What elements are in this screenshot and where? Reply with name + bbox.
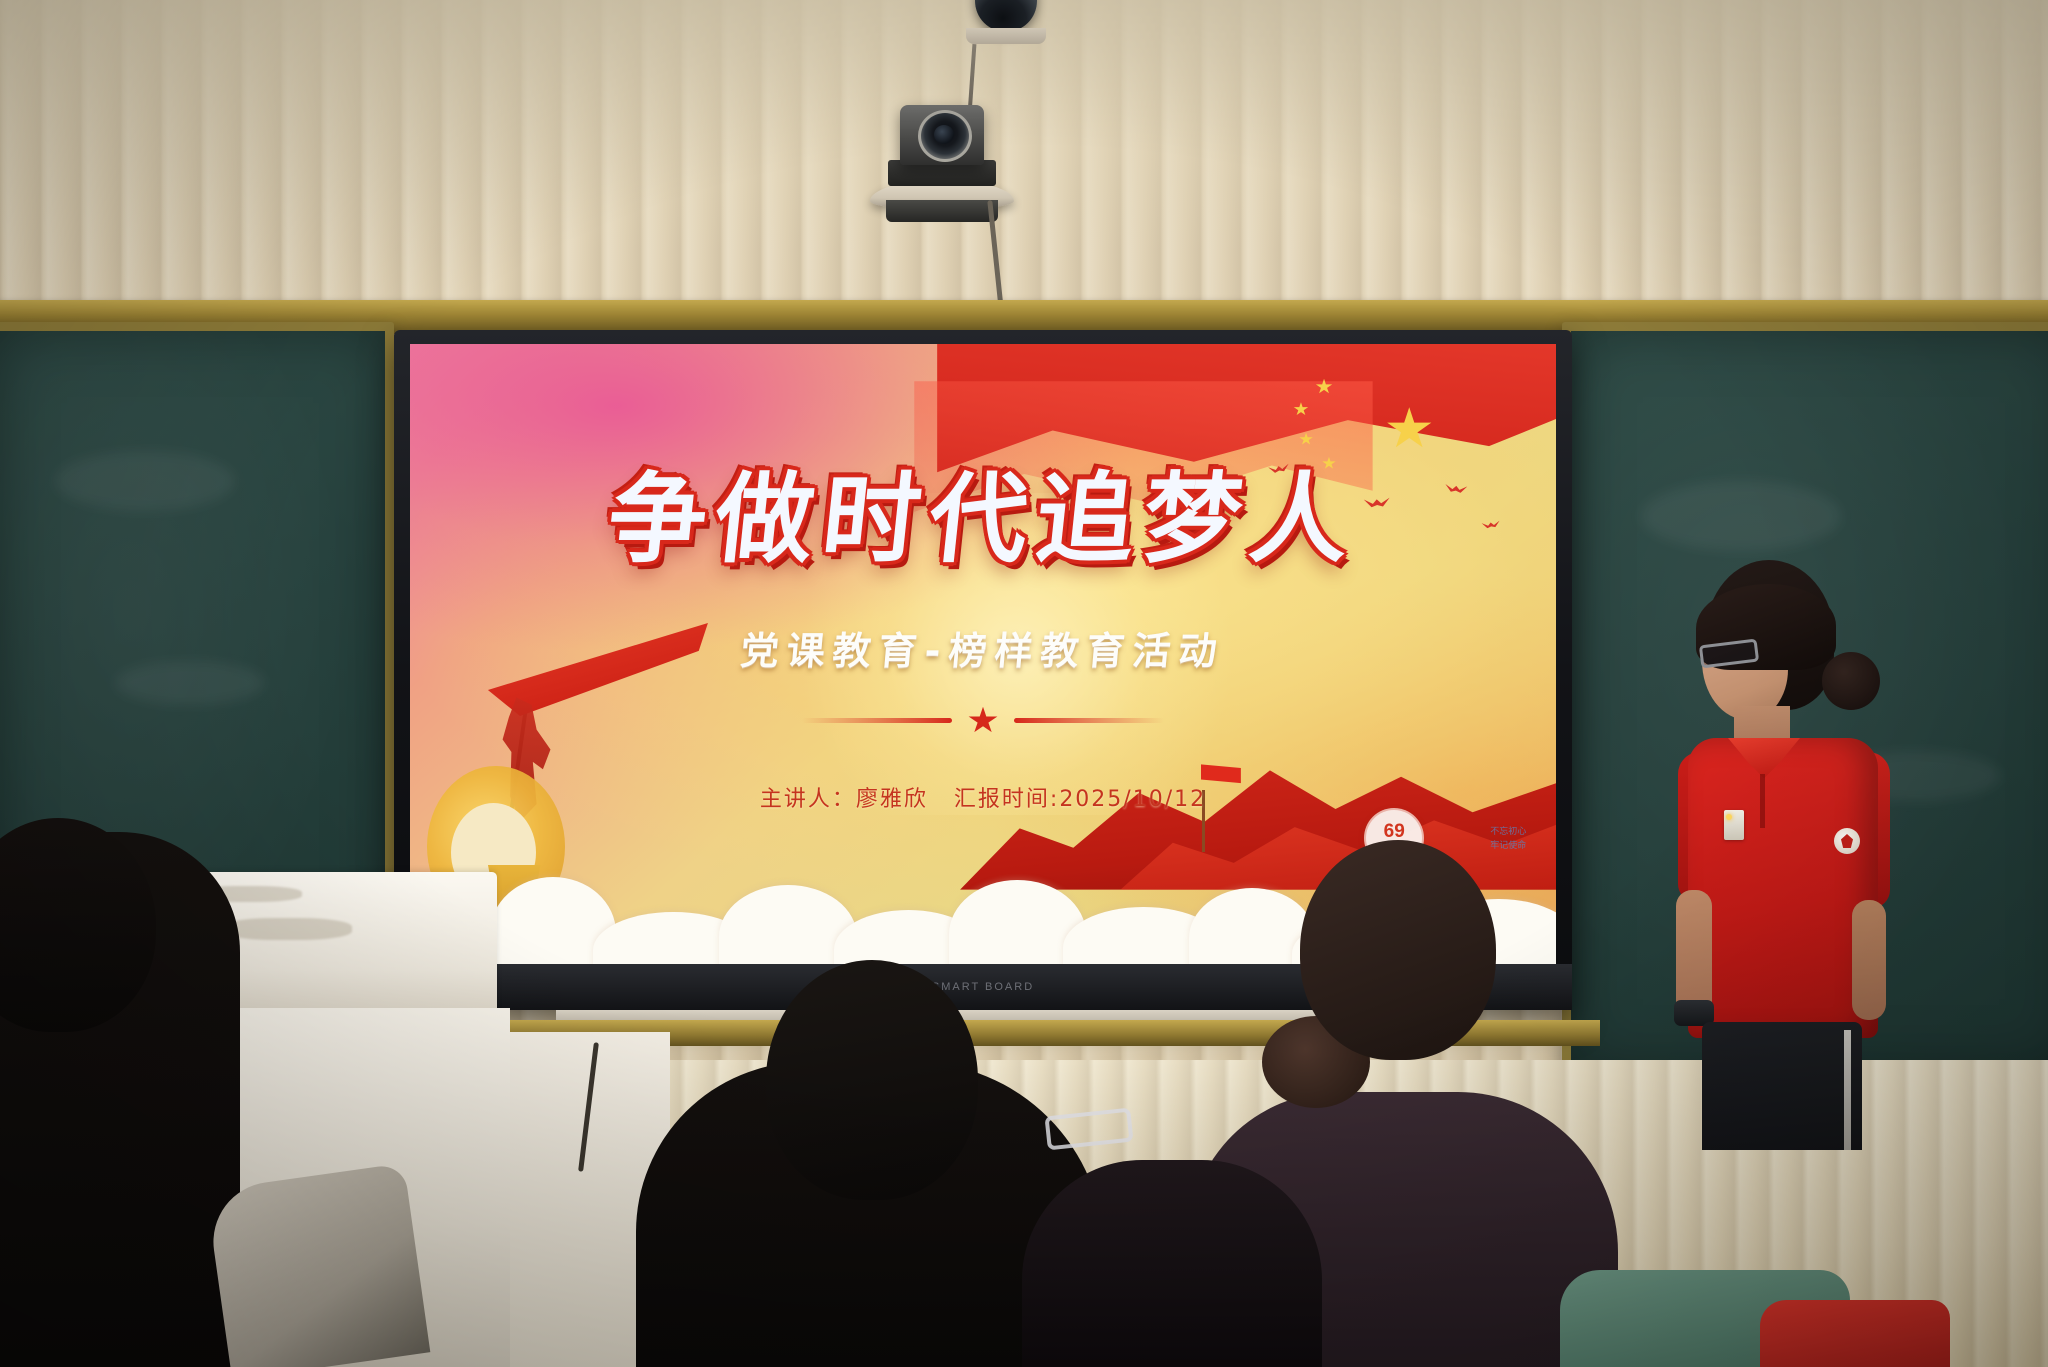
divider-star-icon (968, 707, 998, 735)
chalk-smudge (55, 451, 235, 511)
divider-bar-right (1014, 718, 1164, 723)
badge-side-text: 不忘初心 牢记使命 (1490, 825, 1526, 852)
classroom-photo-scene: 争做时代追梦人 党课教育-榜样教育活动 主讲人：廖雅欣汇报时间:2025/10/… (0, 0, 2048, 1367)
chair-backrest (206, 1163, 431, 1367)
red-polo-shirt (1688, 738, 1878, 1038)
presenter (1672, 560, 1902, 1150)
slide-divider (410, 707, 1556, 735)
slide-byline: 主讲人：廖雅欣汇报时间:2025/10/12 (410, 781, 1556, 813)
chalk-smudge (115, 661, 265, 705)
red-bag (1760, 1300, 1950, 1367)
audience-center-right-body (1022, 1160, 1322, 1367)
audience-center-head (766, 960, 978, 1200)
speaker-label: 主讲人： (760, 787, 856, 812)
shirt-logo-icon (1834, 828, 1860, 854)
presenter-trousers (1702, 1022, 1862, 1150)
slide-subtitle: 党课教育-榜样教育活动 (410, 620, 1556, 675)
cabinet-scuff (222, 918, 352, 940)
date-value: 2025/10/12 (1059, 787, 1206, 812)
date-label: 汇报时间: (954, 787, 1059, 812)
speaker-name: 廖雅欣 (856, 787, 928, 812)
presenter-arm-left (1676, 890, 1712, 1018)
ptz-camera-bracket (886, 200, 998, 222)
badge-side-line1: 不忘初心 (1490, 825, 1526, 839)
display-brand-mark: SMART BOARD (932, 981, 1034, 993)
polo-placket (1760, 774, 1765, 828)
chalk-smudge (1641, 481, 1841, 551)
slide-headline: 争做时代追梦人 (410, 468, 1556, 574)
lapel-pin-icon (1726, 814, 1732, 820)
camera-lens-icon (918, 110, 972, 162)
audience-right-head (1300, 840, 1496, 1060)
divider-bar-left (802, 718, 952, 723)
trouser-side-stripe (1844, 1030, 1851, 1150)
dome-camera-base (966, 28, 1046, 44)
badge-number: 69 (1384, 822, 1405, 841)
presenter-arm-right (1852, 900, 1886, 1020)
badge-side-line2: 牢记使命 (1490, 839, 1526, 853)
hair-bun (1822, 652, 1880, 710)
